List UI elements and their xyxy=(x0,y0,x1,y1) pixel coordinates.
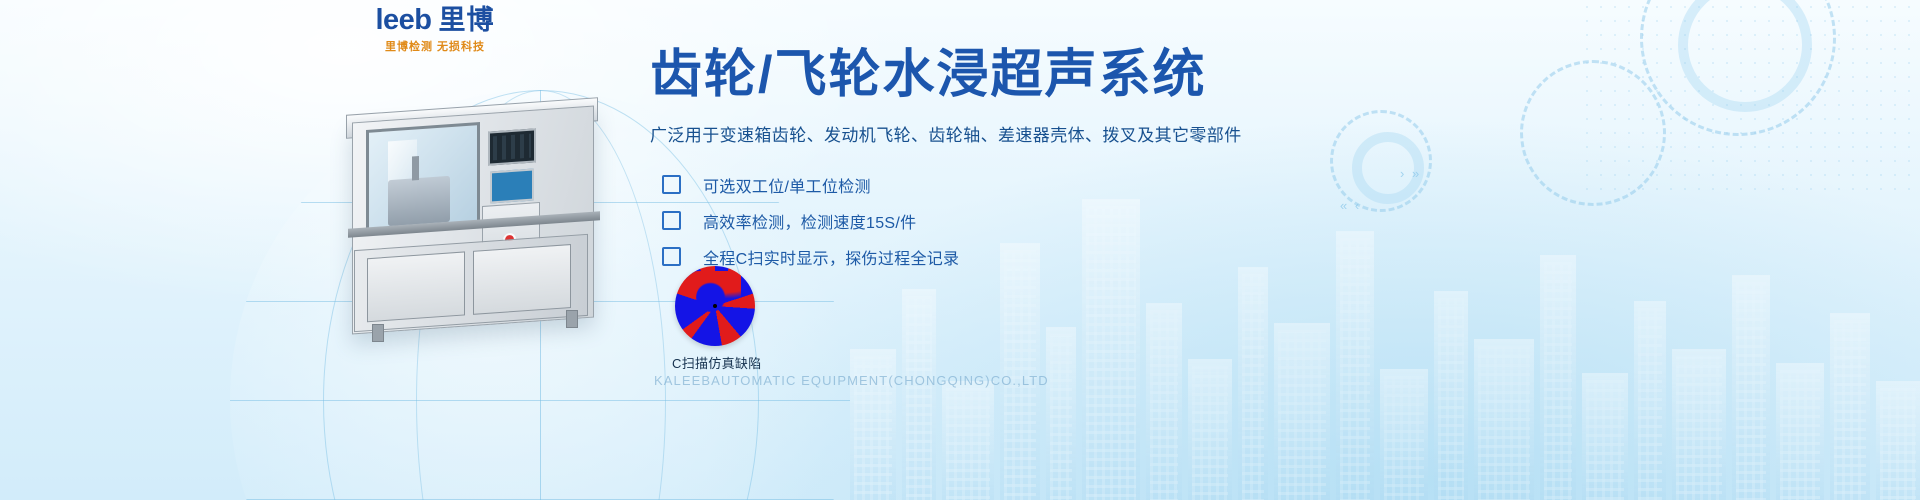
cscan-sample: C扫描仿真缺陷 xyxy=(672,266,758,372)
hero-text-block: 齿轮/飞轮水浸超声系统 广泛用于变速箱齿轮、发动机飞轮、齿轮轴、差速器壳体、拨叉… xyxy=(650,0,1270,276)
machine-display-screen xyxy=(488,128,536,165)
logo-wordmark: leeb里博 xyxy=(345,6,525,35)
feature-label: 全程C扫实时显示，探伤过程全记录 xyxy=(703,245,959,269)
feature-list: 可选双工位/单工位检测 高效率检测，检测速度15S/件 全程C扫实时显示，探伤过… xyxy=(650,168,1270,274)
machine-cabinet xyxy=(354,234,588,332)
company-name-watermark: KALEEBAUTOMATIC EQUIPMENT(CHONGQING)CO.,… xyxy=(654,373,1049,388)
machine-cabinet-door-left xyxy=(367,251,465,322)
dot-grid-decoration xyxy=(1580,0,1920,200)
machine-hmi-screen xyxy=(490,168,534,203)
feature-label: 可选双工位/单工位检测 xyxy=(703,173,871,197)
checkbox-icon xyxy=(662,211,681,230)
hero-headline: 齿轮/飞轮水浸超声系统 xyxy=(650,48,1270,103)
arrow-decoration-left: « ‹ xyxy=(1340,198,1361,213)
logo-wordmark-latin: leeb xyxy=(375,4,431,36)
product-machine-photo xyxy=(330,100,615,345)
checkbox-icon xyxy=(662,175,681,194)
machine-cabinet-door-right xyxy=(473,244,571,315)
cscan-center-dot xyxy=(713,304,717,308)
machine-leg-left xyxy=(372,324,384,342)
cscan-defect-image xyxy=(675,266,755,346)
company-logo[interactable]: leeb里博 里博检测 无损科技 xyxy=(345,6,525,54)
logo-wordmark-chinese: 里博 xyxy=(439,5,495,35)
list-item[interactable]: 可选双工位/单工位检测 xyxy=(650,168,1270,202)
logo-tagline: 里博检测 无损科技 xyxy=(345,38,525,54)
promo-banner: « ‹ › » leeb里博 里博检测 无损科技 xyxy=(0,0,1920,500)
list-item[interactable]: 高效率检测，检测速度15S/件 xyxy=(650,204,1270,238)
arrow-decoration-right: › » xyxy=(1400,166,1421,181)
cscan-caption: C扫描仿真缺陷 xyxy=(672,353,758,372)
feature-label: 高效率检测，检测速度15S/件 xyxy=(703,209,916,233)
hero-subheadline: 广泛用于变速箱齿轮、发动机飞轮、齿轮轴、差速器壳体、拨叉及其它零部件 xyxy=(650,121,1270,146)
machine-leg-right xyxy=(566,310,578,328)
checkbox-icon xyxy=(662,247,681,266)
machine-internal-assembly xyxy=(388,176,450,226)
